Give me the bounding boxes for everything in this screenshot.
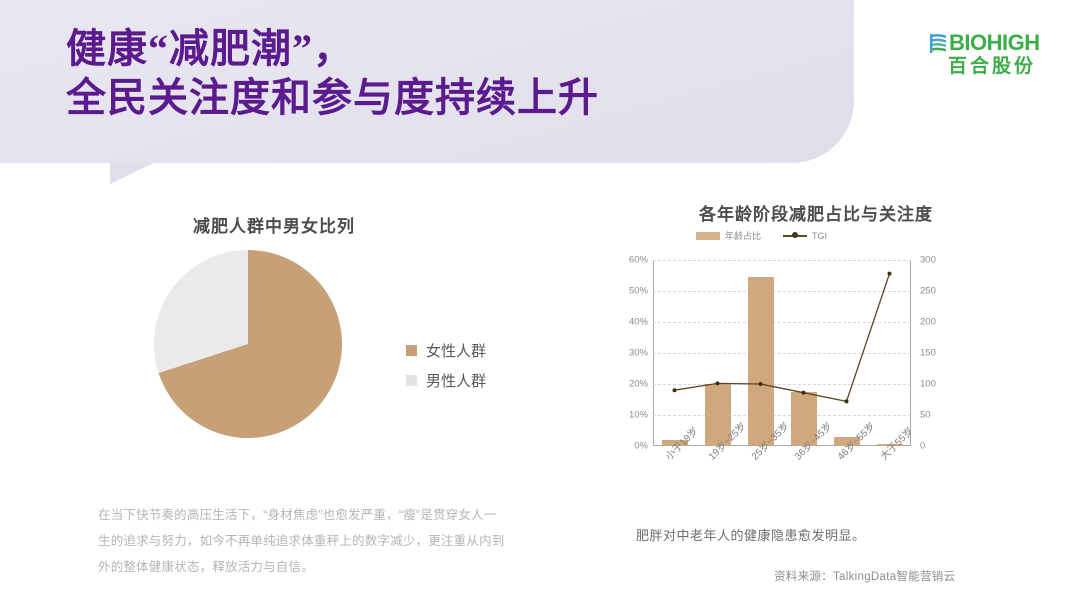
right-chart-panel: 各年龄阶段减肥占比与关注度 年龄占比 TGI 0%10%20%30%40%50%… xyxy=(560,185,1080,605)
pie-slices xyxy=(154,250,342,438)
y-tick-left: 20% xyxy=(629,379,648,390)
legend-swatch-male-icon xyxy=(406,375,417,386)
y-axis-right-labels: 050100150200250300 xyxy=(920,260,968,446)
bar-chart-title: 各年龄阶段减肥占比与关注度 xyxy=(636,200,996,225)
tgi-point xyxy=(802,391,806,395)
tgi-point xyxy=(673,388,677,392)
legend-label-age-share: 年龄占比 xyxy=(725,229,761,242)
page-title: 健康“减肥潮”， 全民关注度和参与度持续上升 xyxy=(66,24,826,122)
bar-chart-legend: 年龄占比 TGI xyxy=(696,229,827,242)
brand-logo: BIOHIGH 百合股份 xyxy=(930,32,1058,88)
y-tick-right: 150 xyxy=(920,348,936,359)
logo-wordmark-cn: 百合股份 xyxy=(948,56,1058,78)
legend-item-male: 男性人群 xyxy=(406,370,486,391)
source-note: 资料来源：TalkingData智能营销云 xyxy=(774,568,955,584)
y-tick-left: 0% xyxy=(634,441,648,452)
left-chart-panel: 减肥人群中男女比列 女性人群 男性人群 在当下快节奏的高压生活下，“身材焦虑”也… xyxy=(0,185,560,605)
legend-label-tgi: TGI xyxy=(812,231,827,241)
y-axis-left-labels: 0%10%20%30%40%50%60% xyxy=(600,260,648,446)
legend-item-age-share: 年龄占比 xyxy=(696,229,761,242)
legend-swatch-bar-icon xyxy=(696,232,720,240)
x-axis-labels: 小于19岁19岁~25岁25岁~35岁36岁~45岁46岁~55岁大于55岁 xyxy=(653,448,911,508)
biohigh-wave-mark-icon xyxy=(930,33,947,54)
tgi-polyline xyxy=(675,274,890,402)
y-tick-left: 10% xyxy=(629,410,648,421)
tgi-point xyxy=(759,382,763,386)
left-body-note: 在当下快节奏的高压生活下，“身材焦虑”也愈发严重，“瘦”是贯穿女人一生的追求与努… xyxy=(98,502,506,580)
y-tick-right: 200 xyxy=(920,317,936,328)
legend-swatch-line-icon xyxy=(783,232,807,240)
tgi-point xyxy=(845,399,849,403)
right-body-note: 肥胖对中老年人的健康隐患愈发明显。 xyxy=(636,525,866,544)
y-tick-left: 50% xyxy=(629,286,648,297)
legend-item-female: 女性人群 xyxy=(406,340,486,361)
pie-legend: 女性人群 男性人群 xyxy=(406,340,486,400)
y-tick-left: 40% xyxy=(629,317,648,328)
y-tick-right: 250 xyxy=(920,286,936,297)
pie-chart xyxy=(154,250,342,438)
legend-item-tgi: TGI xyxy=(783,231,827,241)
tgi-point xyxy=(716,381,720,385)
pie-chart-title: 减肥人群中男女比列 xyxy=(193,212,355,237)
y-tick-right: 100 xyxy=(920,379,936,390)
y-tick-right: 50 xyxy=(920,410,931,421)
slide-canvas: 健康“减肥潮”， 全民关注度和参与度持续上升 BIOHIGH 百合股份 减肥人群… xyxy=(0,0,1080,607)
y-tick-left: 30% xyxy=(629,348,648,359)
header-bubble-tail-icon xyxy=(110,162,156,184)
legend-label-female: 女性人群 xyxy=(426,340,486,361)
legend-label-male: 男性人群 xyxy=(426,370,486,391)
y-tick-right: 0 xyxy=(920,441,925,452)
y-tick-right: 300 xyxy=(920,255,936,266)
logo-wordmark: BIOHIGH xyxy=(949,32,1040,54)
legend-swatch-female-icon xyxy=(406,345,417,356)
tgi-point xyxy=(888,272,892,276)
y-tick-left: 60% xyxy=(629,255,648,266)
